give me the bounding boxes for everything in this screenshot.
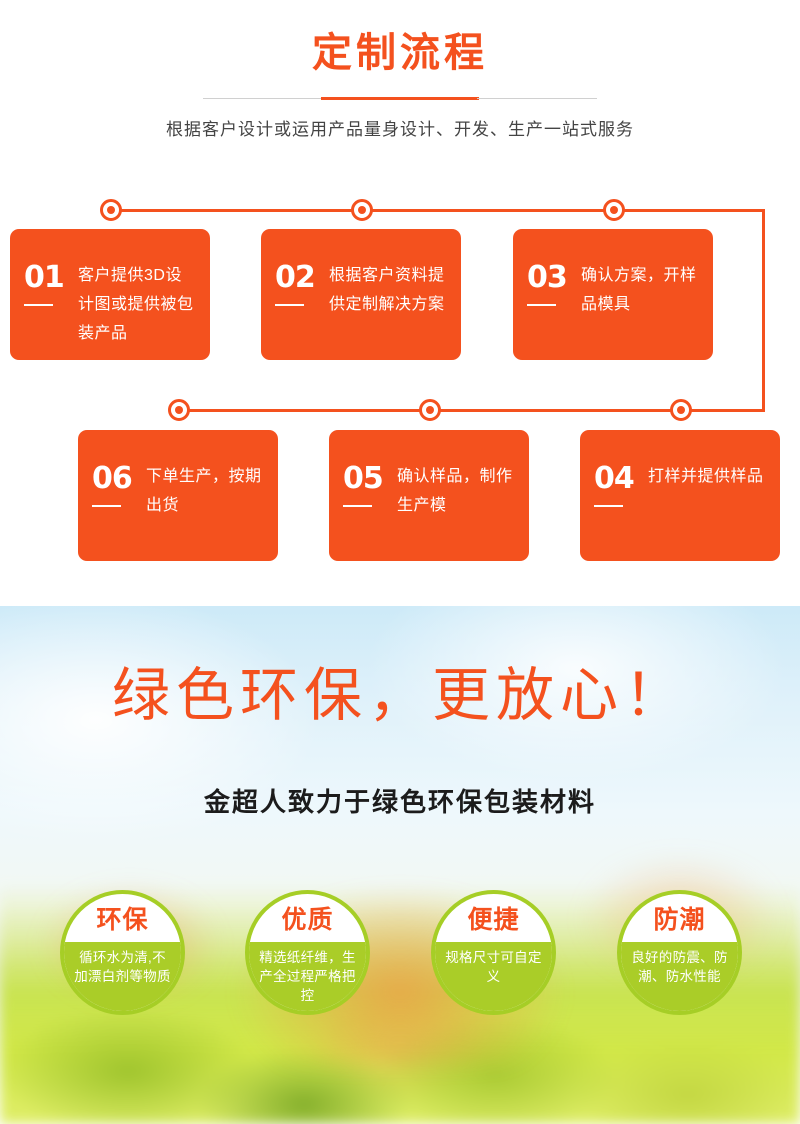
step-number-col-02: 02 [275,261,327,360]
eco-subtitle: 金超人致力于绿色环保包装材料 [0,782,800,819]
process-step-06[interactable]: 06 下单生产，按期出货 [78,430,278,561]
eco-feature-desc-1: 循环水为清,不加漂白剂等物质 [64,942,181,1011]
connector-dot-01 [100,199,122,221]
step-number-01: 01 [24,263,76,293]
eco-feature-desc-4: 良好的防震、防潮、防水性能 [621,942,738,1011]
connector-line-right [762,209,765,412]
step-text-06: 下单生产，按期出货 [144,462,264,561]
eco-feature-label-3: 便捷 [435,894,552,942]
process-step-01[interactable]: 01 客户提供3D设计图或提供被包装产品 [10,229,210,360]
step-dash-04 [594,505,623,507]
eco-feature-circle-4[interactable]: 防潮 良好的防震、防潮、防水性能 [617,890,742,1015]
divider-right-line [477,98,597,99]
step-text-03: 确认方案，开样品模具 [579,261,699,360]
step-dash-05 [343,505,372,507]
divider-center-accent [321,97,479,100]
connector-dot-05 [419,399,441,421]
step-number-col-01: 01 [24,261,76,360]
eco-title: 绿色环保，更放心！ [0,660,800,732]
eco-feature-label-4: 防潮 [621,894,738,942]
step-number-col-04: 04 [594,462,646,561]
eco-feature-list: 环保 循环水为清,不加漂白剂等物质 优质 精选纸纤维，生产全过程严格把控 便捷 … [0,890,800,1060]
eco-feature-label-1: 环保 [64,894,181,942]
eco-feature-label-2: 优质 [249,894,366,942]
step-dash-03 [527,304,556,306]
step-number-02: 02 [275,263,327,293]
step-dash-06 [92,505,121,507]
step-number-col-06: 06 [92,462,144,561]
step-text-01: 客户提供3D设计图或提供被包装产品 [76,261,196,360]
eco-feature-desc-2: 精选纸纤维，生产全过程严格把控 [249,942,366,1011]
page-root: 定制流程 根据客户设计或运用产品量身设计、开发、生产一站式服务 01 客户提供3… [0,0,800,1124]
eco-feature-desc-3: 规格尺寸可自定义 [435,942,552,1011]
step-number-col-05: 05 [343,462,395,561]
page-title: 定制流程 [0,25,800,81]
process-step-02[interactable]: 02 根据客户资料提供定制解决方案 [261,229,461,360]
connector-dot-02 [351,199,373,221]
step-number-06: 06 [92,464,144,494]
step-text-05: 确认样品，制作生产模 [395,462,515,561]
title-divider [203,97,597,100]
step-number-04: 04 [594,464,646,494]
step-text-04: 打样并提供样品 [646,462,766,561]
process-step-03[interactable]: 03 确认方案，开样品模具 [513,229,713,360]
connector-line-top [110,209,765,212]
connector-dot-06 [168,399,190,421]
connector-dot-03 [603,199,625,221]
step-text-02: 根据客户资料提供定制解决方案 [327,261,447,360]
eco-feature-circle-3[interactable]: 便捷 规格尺寸可自定义 [431,890,556,1015]
step-dash-01 [24,304,53,306]
process-section: 定制流程 根据客户设计或运用产品量身设计、开发、生产一站式服务 01 客户提供3… [0,0,800,606]
eco-feature-circle-2[interactable]: 优质 精选纸纤维，生产全过程严格把控 [245,890,370,1015]
page-subtitle: 根据客户设计或运用产品量身设计、开发、生产一站式服务 [0,115,800,140]
step-dash-02 [275,304,304,306]
eco-feature-circle-1[interactable]: 环保 循环水为清,不加漂白剂等物质 [60,890,185,1015]
divider-left-line [203,98,323,99]
step-number-col-03: 03 [527,261,579,360]
process-step-05[interactable]: 05 确认样品，制作生产模 [329,430,529,561]
connector-dot-04 [670,399,692,421]
step-number-05: 05 [343,464,395,494]
process-step-04[interactable]: 04 打样并提供样品 [580,430,780,561]
step-number-03: 03 [527,263,579,293]
eco-section: 绿色环保，更放心！ 金超人致力于绿色环保包装材料 环保 循环水为清,不加漂白剂等… [0,606,800,1124]
